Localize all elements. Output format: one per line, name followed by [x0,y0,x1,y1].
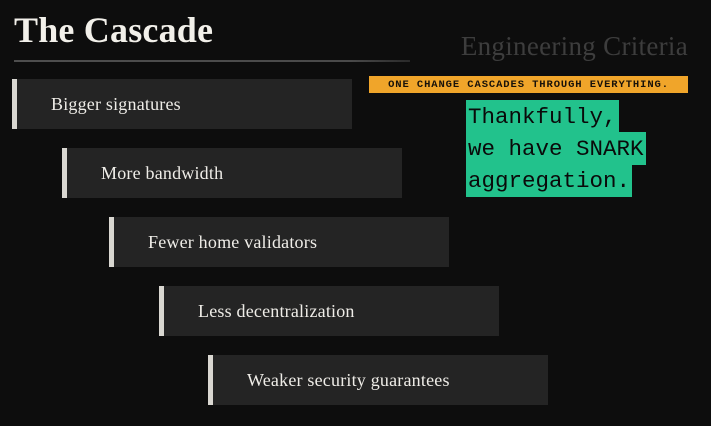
step-label: More bandwidth [67,163,223,184]
step-panel: More bandwidth [67,148,402,198]
note-line: we have SNARK [468,133,700,165]
cascade-step-5: Weaker security guarantees [208,355,548,405]
note-line-text: we have SNARK [468,134,644,163]
step-label: Weaker security guarantees [213,370,450,391]
step-panel: Less decentralization [164,286,499,336]
note-line-text: aggregation. [468,166,630,195]
step-panel: Bigger signatures [17,79,352,129]
cascade-step-4: Less decentralization [159,286,499,336]
callout-banner-text: ONE CHANGE CASCADES THROUGH EVERYTHING. [388,79,669,91]
note-line: Thankfully, [468,101,700,133]
step-label: Less decentralization [164,301,355,322]
callout-banner: ONE CHANGE CASCADES THROUGH EVERYTHING. [369,76,688,93]
cascade-step-1: Bigger signatures [12,79,352,129]
note-line: aggregation. [468,165,700,197]
highlighted-note: Thankfully, we have SNARK aggregation. [468,101,700,197]
note-line-text: Thankfully, [468,102,617,131]
cascade-step-3: Fewer home validators [109,217,449,267]
step-panel: Weaker security guarantees [213,355,548,405]
cascade-step-2: More bandwidth [62,148,402,198]
step-label: Fewer home validators [114,232,317,253]
step-panel: Fewer home validators [114,217,449,267]
cascade-list: Bigger signatures More bandwidth Fewer h… [0,0,711,426]
step-label: Bigger signatures [17,94,181,115]
slide-canvas: The Cascade Engineering Criteria Bigger … [0,0,711,426]
